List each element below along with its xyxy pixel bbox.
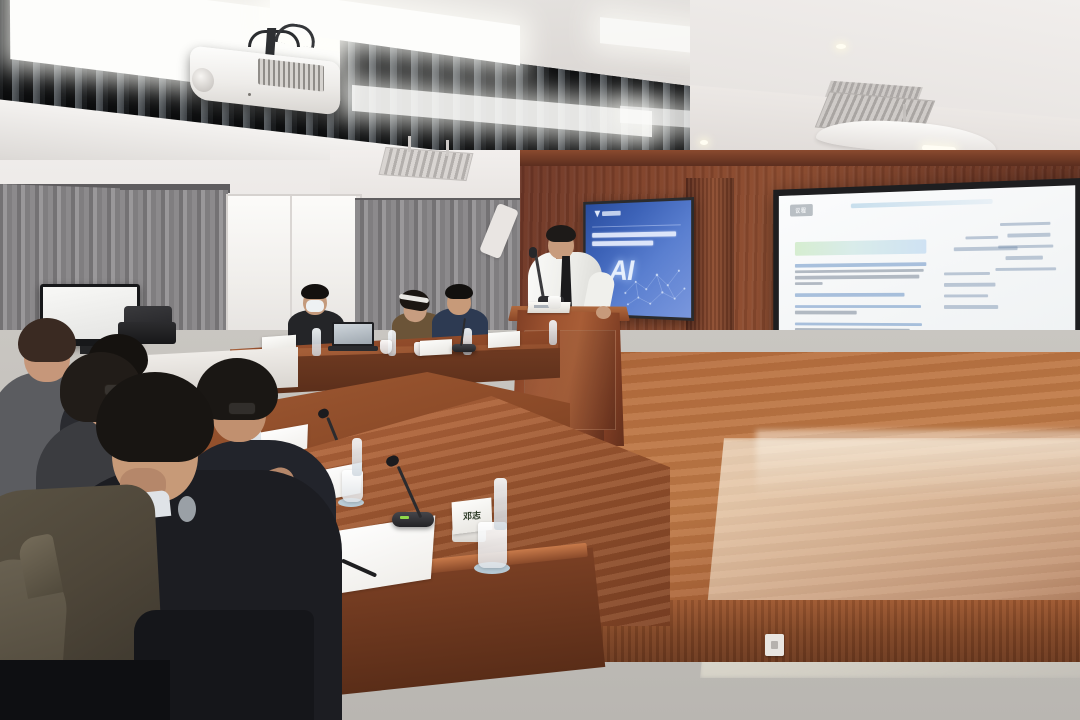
- eyeglasses-icon: [228, 402, 256, 415]
- presenter-hand: [596, 306, 611, 319]
- power-outlet-slot: [771, 641, 778, 649]
- attendee-ear: [178, 496, 196, 522]
- slide-rule: [592, 224, 680, 227]
- face-mask-icon: [306, 300, 324, 312]
- name-card-text: 邓志: [463, 512, 481, 520]
- laptop-base: [328, 346, 378, 351]
- panelist-hair: [445, 284, 473, 299]
- water-glass-icon: [380, 340, 392, 354]
- logo-mark-icon: [594, 211, 600, 218]
- slide-paragraph: [795, 305, 926, 315]
- water-bottle-icon: [312, 328, 321, 356]
- conference-room-photo: AI 议程: [0, 0, 1080, 720]
- slide-paragraph: [795, 262, 926, 285]
- chair-shadow: [0, 660, 170, 720]
- slide-logo: [594, 210, 620, 217]
- presenter-hair: [546, 225, 576, 242]
- projector-light-pool: [756, 430, 1080, 500]
- panel-microphone-base: [452, 344, 476, 352]
- air-diffuser-icon: [379, 147, 474, 181]
- slide-highlight-bar: [795, 240, 926, 256]
- laptop-screen: [334, 324, 372, 344]
- wood-trim: [520, 150, 1080, 166]
- water-bottle-icon: [494, 478, 507, 530]
- diffuser-hanger: [408, 136, 411, 152]
- logo-wordmark: [602, 211, 621, 216]
- downlight-icon: [700, 140, 708, 145]
- slide-right-column: [944, 234, 1069, 279]
- slide-title-block: [592, 231, 676, 249]
- microphone-led-icon: [400, 516, 409, 519]
- conference-microphone-base: [392, 512, 434, 527]
- panel-name-card: [420, 339, 452, 356]
- panel-name-card: [488, 331, 520, 348]
- podium-microphone-icon: [529, 247, 537, 258]
- slide-badge: 议程: [790, 204, 813, 217]
- attendee-hair: [18, 318, 76, 362]
- panelist-hair: [301, 284, 329, 299]
- podium-cup: [548, 296, 561, 309]
- slide-headline-bar: [851, 199, 993, 208]
- diffuser-hanger: [446, 140, 449, 156]
- slide-paragraph: [795, 293, 926, 297]
- projector-indicator: [248, 93, 251, 96]
- water-bottle-icon: [352, 438, 362, 476]
- downlight-icon: [836, 44, 846, 49]
- water-bottle-icon: [549, 320, 557, 345]
- network-graphic-icon: [622, 260, 689, 313]
